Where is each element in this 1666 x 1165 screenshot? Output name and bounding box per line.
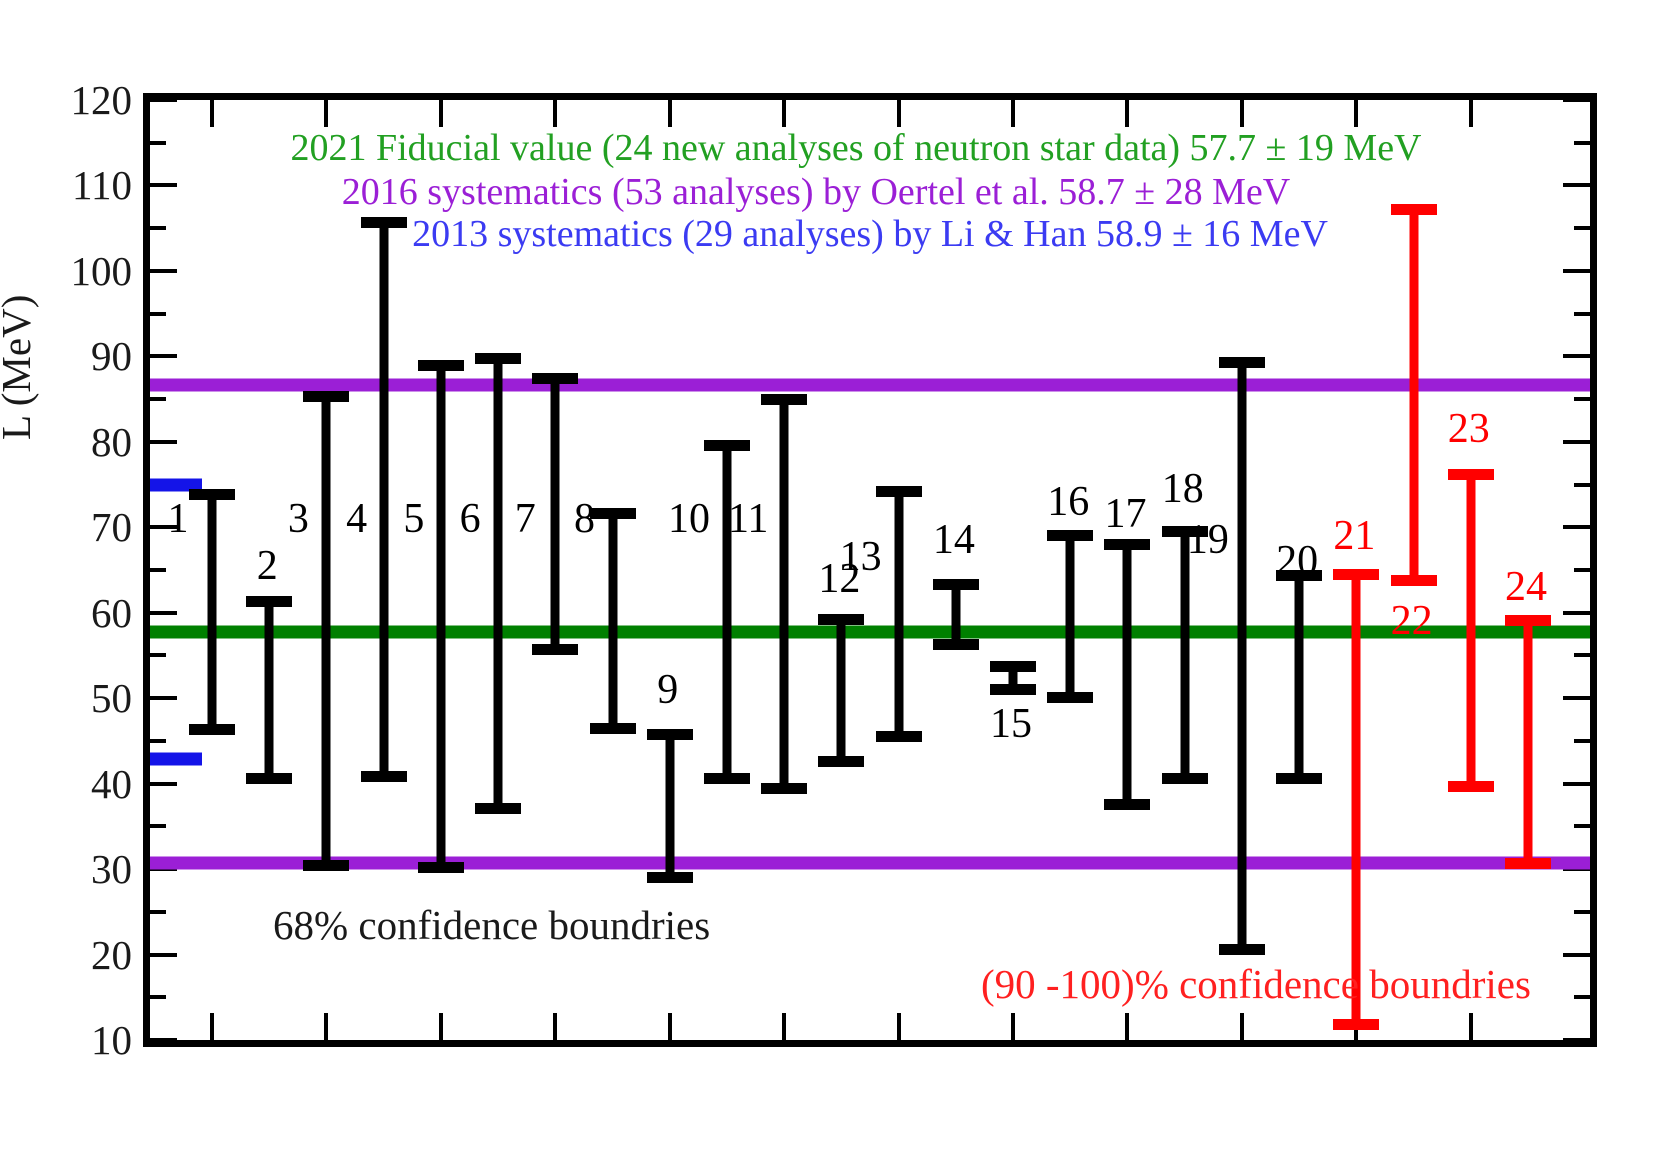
y-axis-tick-major	[150, 98, 177, 102]
error-bar-cap-lower	[1448, 781, 1494, 792]
data-point-label: 7	[515, 495, 536, 543]
error-bar-cap-lower	[418, 862, 464, 873]
x-axis-tick-top	[324, 100, 328, 127]
error-bar	[1047, 530, 1093, 703]
y-axis-tick-label: 60	[91, 589, 132, 637]
y-axis-tick-major	[150, 782, 177, 786]
error-bar-cap-lower	[1047, 692, 1093, 703]
error-bar	[1276, 570, 1322, 784]
y-axis-tick-minor	[150, 312, 166, 316]
error-bar-cap-lower	[761, 783, 807, 794]
x-axis-tick-top	[210, 100, 214, 127]
y-axis-tick-minor-right	[1574, 397, 1590, 401]
error-bar-stem	[1409, 204, 1418, 586]
data-point-label: 16	[1047, 478, 1089, 526]
data-point-label: 22	[1391, 597, 1433, 645]
data-point-label: 10	[668, 495, 710, 543]
error-bar-cap-lower	[1219, 944, 1265, 955]
error-bar	[246, 596, 292, 784]
error-bar-stem	[837, 614, 846, 766]
error-bar	[590, 508, 636, 734]
y-axis-tick-label: 80	[91, 418, 132, 466]
error-bar-cap-lower	[1505, 858, 1551, 869]
data-point-label: 1	[168, 495, 189, 543]
y-axis-tick-major-right	[1563, 183, 1590, 187]
error-bar	[1505, 615, 1551, 869]
data-point-label: 8	[574, 495, 595, 543]
y-axis-tick-major	[150, 269, 177, 273]
legend-2013: 2013 systematics (29 analyses) by Li & H…	[412, 212, 1328, 256]
error-bar-cap-upper	[1505, 615, 1551, 626]
error-bar-cap-upper	[1219, 357, 1265, 368]
data-point-label: 5	[403, 495, 424, 543]
error-bar-cap-lower	[990, 684, 1036, 695]
error-bar-stem	[551, 373, 560, 656]
y-axis-tick-minor-right	[1574, 910, 1590, 914]
error-bar-stem	[665, 729, 674, 883]
error-bar-cap-lower	[876, 731, 922, 742]
y-axis-tick-minor-right	[1574, 824, 1590, 828]
error-bar-cap-lower	[818, 756, 864, 767]
error-bar	[1104, 539, 1150, 810]
y-axis-tick-minor-right	[1574, 312, 1590, 316]
y-axis-tick-minor-right	[1574, 226, 1590, 230]
error-bar	[876, 486, 922, 742]
data-point-label: 20	[1276, 537, 1318, 585]
error-bar-stem	[894, 486, 903, 742]
x-axis-tick-top	[553, 100, 557, 127]
error-bar-cap-lower	[475, 803, 521, 814]
data-point-label: 19	[1187, 516, 1229, 564]
error-bar	[1391, 204, 1437, 586]
error-bar-cap-upper	[1391, 204, 1437, 215]
error-bar	[647, 729, 693, 883]
error-bar-cap-upper	[532, 373, 578, 384]
error-bar	[990, 661, 1036, 695]
legend-2021: 2021 Fiducial value (24 new analyses of …	[290, 126, 1421, 170]
error-bar-cap-lower	[933, 639, 979, 650]
data-point-label: 3	[288, 495, 309, 543]
legend-2016: 2016 systematics (53 analyses) by Oertel…	[342, 170, 1290, 214]
y-axis-tick-minor	[150, 568, 166, 572]
error-bar	[1448, 469, 1494, 792]
error-bar-cap-upper	[303, 391, 349, 402]
x-axis-tick-bottom	[210, 1013, 214, 1040]
error-bar	[1219, 357, 1265, 954]
y-axis-tick-label: 50	[91, 674, 132, 722]
error-bar-cap-upper	[990, 661, 1036, 672]
error-bar-stem	[436, 360, 445, 873]
note-90-100: (90 -100)% confidence boundries	[981, 960, 1531, 1008]
error-bar-stem	[265, 596, 274, 784]
error-bar-cap-upper	[590, 508, 636, 519]
y-axis-tick-label: 30	[91, 845, 132, 893]
y-axis-tick-label: 40	[91, 760, 132, 808]
error-bar-cap-upper	[475, 353, 521, 364]
data-point-label: 15	[990, 700, 1032, 748]
data-point-label: 4	[346, 495, 367, 543]
y-axis-tick-label: 90	[91, 332, 132, 380]
y-axis-tick-minor	[150, 397, 166, 401]
x-axis-tick-bottom	[897, 1013, 901, 1040]
error-bar	[761, 394, 807, 794]
error-bar-stem	[494, 353, 503, 814]
y-axis-tick-major	[150, 183, 177, 187]
y-axis-tick-minor	[150, 824, 166, 828]
error-bar-stem	[780, 394, 789, 794]
y-axis-tick-minor	[150, 739, 166, 743]
x-axis-tick-top	[439, 100, 443, 127]
y-axis-tick-major	[150, 440, 177, 444]
x-axis-tick-top	[668, 100, 672, 127]
error-bar-cap-upper	[1047, 530, 1093, 541]
data-point-label: 23	[1448, 405, 1490, 453]
y-axis-tick-minor	[150, 653, 166, 657]
error-bar	[361, 217, 407, 782]
y-axis-tick-major-right	[1563, 354, 1590, 358]
data-point-label: 11	[728, 495, 768, 543]
error-bar-cap-upper	[933, 579, 979, 590]
data-point-label: 24	[1505, 563, 1547, 611]
error-bar-cap-upper	[818, 614, 864, 625]
y-axis-tick-label: 20	[91, 931, 132, 979]
error-bar-stem	[1123, 539, 1132, 810]
y-axis-tick-minor	[150, 141, 166, 145]
error-bar	[303, 391, 349, 871]
note-68: 68% confidence boundries	[273, 901, 710, 949]
x-axis-tick-bottom	[668, 1013, 672, 1040]
y-axis-tick-minor-right	[1574, 995, 1590, 999]
error-bar-cap-upper	[361, 217, 407, 228]
error-bar-stem	[1180, 526, 1189, 783]
error-bar-cap-upper	[1333, 569, 1379, 580]
x-axis-tick-top	[1469, 100, 1473, 127]
y-axis-tick-minor-right	[1574, 739, 1590, 743]
error-bar	[418, 360, 464, 873]
y-axis-tick-minor-right	[1574, 141, 1590, 145]
x-axis-tick-top	[1011, 100, 1015, 127]
x-axis-tick-top	[897, 100, 901, 127]
error-bar-stem	[1066, 530, 1075, 703]
error-bar	[475, 353, 521, 814]
error-bar-stem	[379, 217, 388, 782]
x-axis-tick-bottom	[1469, 1013, 1473, 1040]
error-bar-cap-lower	[303, 860, 349, 871]
error-bar-cap-upper	[418, 360, 464, 371]
x-axis-tick-bottom	[782, 1013, 786, 1040]
y-axis-tick-major	[150, 696, 177, 700]
y-axis-tick-minor	[150, 910, 166, 914]
error-bar-cap-lower	[361, 771, 407, 782]
y-axis-tick-major-right	[1563, 269, 1590, 273]
error-bar-cap-lower	[532, 644, 578, 655]
y-axis-tick-major-right	[1563, 1038, 1590, 1042]
error-bar-cap-lower	[189, 724, 235, 735]
y-axis-tick-label: 110	[72, 161, 132, 209]
y-axis-tick-minor-right	[1574, 568, 1590, 572]
error-bar-stem	[208, 489, 217, 735]
error-bar-cap-upper	[1448, 469, 1494, 480]
error-bar-stem	[1524, 615, 1533, 869]
error-bar	[818, 614, 864, 766]
error-bar-stem	[608, 508, 617, 734]
y-axis-tick-major-right	[1563, 611, 1590, 615]
y-axis-tick-major-right	[1563, 953, 1590, 957]
error-bar-cap-upper	[761, 394, 807, 405]
data-point-label: 18	[1162, 465, 1204, 513]
data-point-label: 13	[840, 533, 882, 581]
y-axis-tick-minor-right	[1574, 653, 1590, 657]
y-axis-tick-label: 10	[91, 1016, 132, 1064]
y-axis-tick-label: 120	[71, 76, 133, 124]
error-bar-cap-lower	[704, 773, 750, 784]
error-bar	[1162, 526, 1208, 783]
error-bar-cap-upper	[246, 596, 292, 607]
error-bar-cap-lower	[1276, 773, 1322, 784]
y-axis-tick-major-right	[1563, 440, 1590, 444]
data-point-label: 2	[257, 542, 278, 590]
error-bar	[933, 579, 979, 650]
data-point-label: 9	[657, 666, 678, 714]
error-bar-cap-lower	[1333, 1019, 1379, 1030]
x-axis-tick-top	[782, 100, 786, 127]
x-axis-tick-bottom	[1240, 1013, 1244, 1040]
error-bar	[704, 440, 750, 784]
y-axis-tick-major	[150, 611, 177, 615]
data-point-label: 14	[933, 516, 975, 564]
error-bar-stem	[1295, 570, 1304, 784]
data-point-label: 21	[1333, 512, 1375, 560]
error-bar-cap-lower	[246, 773, 292, 784]
x-axis-tick-top	[1125, 100, 1129, 127]
error-bar-cap-lower	[1391, 575, 1437, 586]
x-axis-tick-bottom	[1125, 1013, 1129, 1040]
y-axis-tick-minor	[150, 226, 166, 230]
y-axis-tick-label: 100	[71, 247, 133, 295]
x-axis-tick-bottom	[324, 1013, 328, 1040]
error-bar-stem	[322, 391, 331, 871]
error-bar-cap-upper	[704, 440, 750, 451]
y-axis-tick-label: 70	[91, 503, 132, 551]
x-axis-tick-top	[1240, 100, 1244, 127]
error-bar-cap-lower	[1104, 799, 1150, 810]
error-bar-cap-upper	[876, 486, 922, 497]
y-axis-tick-major-right	[1563, 525, 1590, 529]
x-axis-tick-bottom	[1011, 1013, 1015, 1040]
data-point-label: 17	[1104, 490, 1146, 538]
figure-root: 123456789101112131415161718192021222324 …	[0, 0, 1666, 1165]
error-bar-cap-lower	[647, 872, 693, 883]
x-axis-tick-top	[1354, 100, 1358, 127]
y-axis-tick-major-right	[1563, 98, 1590, 102]
y-axis-tick-minor	[150, 995, 166, 999]
error-bar-cap-lower	[590, 723, 636, 734]
x-axis-tick-bottom	[553, 1013, 557, 1040]
y-axis-label: L (MeV)	[0, 295, 40, 440]
error-bar-stem	[1466, 469, 1475, 792]
y-axis-tick-major	[150, 1038, 177, 1042]
x-axis-tick-bottom	[439, 1013, 443, 1040]
data-point-label: 6	[460, 495, 481, 543]
error-bar-stem	[722, 440, 731, 784]
y-axis-tick-major	[150, 953, 177, 957]
error-bar-cap-upper	[189, 489, 235, 500]
y-axis-tick-major-right	[1563, 696, 1590, 700]
error-bar-cap-upper	[1104, 539, 1150, 550]
error-bar	[532, 373, 578, 656]
y-axis-tick-major	[150, 354, 177, 358]
error-bar-cap-upper	[647, 729, 693, 740]
error-bar-cap-lower	[1162, 773, 1208, 784]
error-bar	[189, 489, 235, 735]
y-axis-tick-major-right	[1563, 782, 1590, 786]
error-bar-stem	[1237, 357, 1246, 954]
